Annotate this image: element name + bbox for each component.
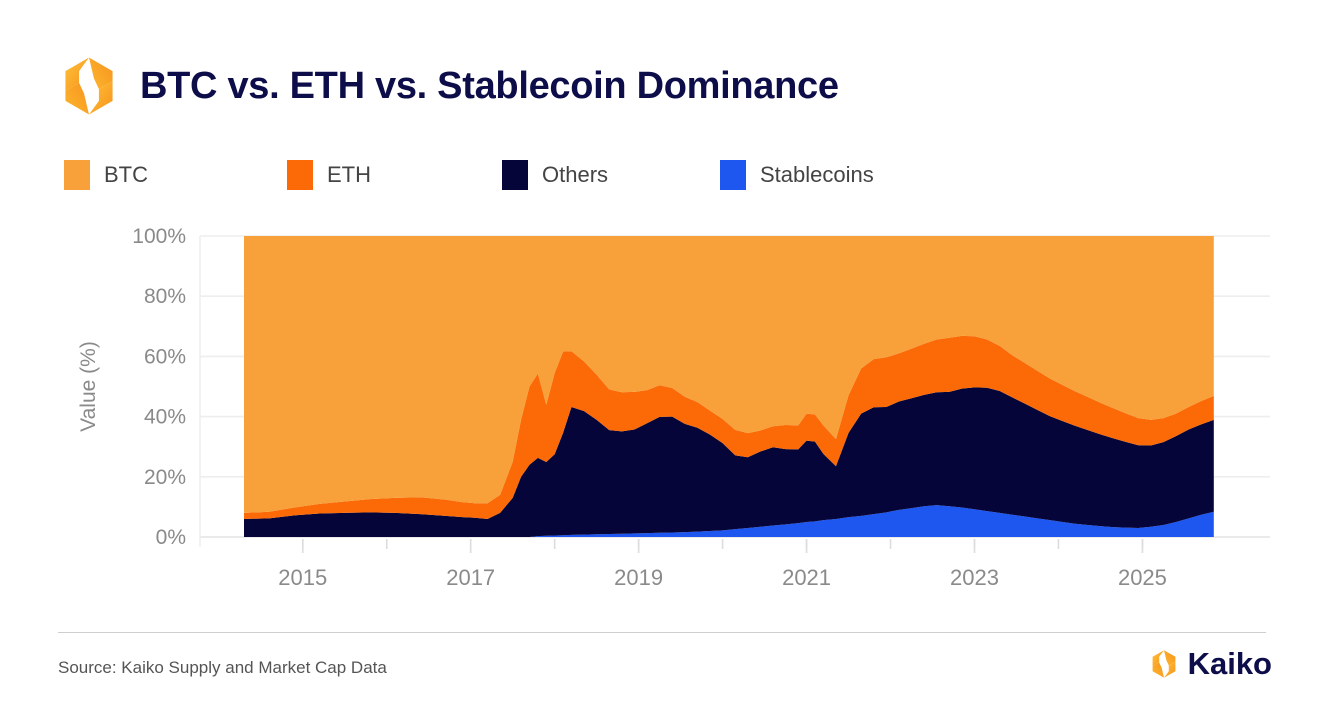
- y-tick-label: 80%: [144, 285, 186, 308]
- y-axis-title: Value (%): [77, 341, 100, 432]
- legend-item-eth[interactable]: ETH: [287, 158, 371, 192]
- x-tick-label: 2021: [782, 565, 831, 590]
- footer-brand: Kaiko: [1149, 648, 1272, 679]
- legend-label-eth: ETH: [327, 162, 371, 188]
- area-others: [244, 387, 1214, 537]
- area-stablecoins: [244, 505, 1214, 537]
- area-btc: [244, 236, 1214, 513]
- kaiko-logo-icon: [1149, 649, 1179, 679]
- source-caption: Source: Kaiko Supply and Market Cap Data: [58, 658, 387, 678]
- y-tick-label: 0%: [156, 526, 186, 549]
- legend-item-btc[interactable]: BTC: [64, 158, 148, 192]
- legend-label-stablecoins: Stablecoins: [760, 162, 874, 188]
- axis-labels: Value (%): [77, 341, 100, 432]
- x-tick-label: 2023: [950, 565, 999, 590]
- x-tick-label: 2017: [446, 565, 495, 590]
- chart-page: BTC vs. ETH vs. Stablecoin Dominance BTC…: [0, 0, 1320, 720]
- chart-header: BTC vs. ETH vs. Stablecoin Dominance: [58, 55, 839, 117]
- y-axis-ticks: 0%20%40%60%80%100%: [132, 225, 186, 549]
- x-tick-label: 2025: [1118, 565, 1167, 590]
- chart-gridlines: [200, 236, 1270, 547]
- kaiko-logo-icon: [58, 55, 120, 117]
- x-axis-ticks: 201520172019202120232025: [278, 539, 1167, 590]
- x-tick-label: 2019: [614, 565, 663, 590]
- legend-label-btc: BTC: [104, 162, 148, 188]
- y-tick-label: 100%: [132, 225, 186, 248]
- y-tick-label: 60%: [144, 345, 186, 368]
- legend-label-others: Others: [542, 162, 608, 188]
- x-tick-label: 2015: [278, 565, 327, 590]
- footer-divider: [58, 632, 1266, 633]
- legend-item-others[interactable]: Others: [502, 158, 608, 192]
- footer-wordmark: Kaiko: [1188, 648, 1272, 679]
- chart-series-areas: [244, 236, 1214, 537]
- legend-item-stablecoins[interactable]: Stablecoins: [720, 158, 874, 192]
- y-tick-label: 20%: [144, 466, 186, 489]
- page-title: BTC vs. ETH vs. Stablecoin Dominance: [140, 67, 839, 105]
- legend-swatch-eth: [287, 160, 313, 190]
- y-tick-label: 40%: [144, 406, 186, 429]
- area-eth: [244, 336, 1214, 519]
- legend-swatch-stablecoins: [720, 160, 746, 190]
- legend-swatch-btc: [64, 160, 90, 190]
- legend-swatch-others: [502, 160, 528, 190]
